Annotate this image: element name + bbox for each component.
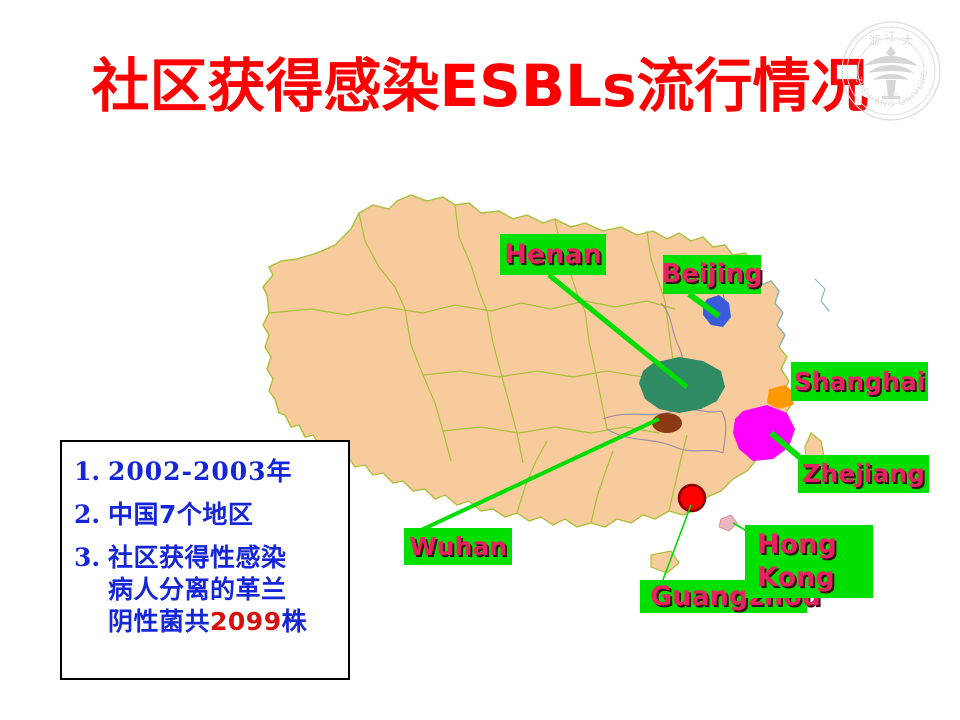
info-item-3-number: 3. bbox=[74, 542, 108, 573]
map-label-hongkong[interactable]: Hong Kong bbox=[745, 525, 873, 598]
info-item-3-highlight: 2099 bbox=[210, 607, 282, 636]
info-item-3-line3-post: 株 bbox=[282, 607, 308, 636]
info-item-1: 1. 2002-2003年 bbox=[74, 456, 338, 488]
map-label-wuhan-text: Wuhan bbox=[409, 534, 507, 560]
info-item-3: 3. 社区获得性感染 病人分离的革兰 阴性菌共2099株 bbox=[74, 542, 338, 638]
map-label-henan-text: Henan bbox=[504, 241, 602, 269]
zhejiang-university-logo-icon: 浙 江 大 ZHEJIANG UNIVERSITY 1897 bbox=[838, 18, 944, 124]
svg-text:1897: 1897 bbox=[884, 91, 899, 100]
hainan-island bbox=[651, 551, 679, 573]
connector-guangzhou bbox=[661, 505, 691, 585]
map-label-hongkong-line1: Hong bbox=[757, 529, 837, 562]
info-item-3-text: 社区获得性感染 病人分离的革兰 阴性菌共2099株 bbox=[108, 542, 307, 638]
info-item-3-line1: 社区获得性感染 bbox=[108, 543, 287, 572]
info-item-2-text: 中国7个地区 bbox=[108, 499, 253, 531]
map-label-shanghai-text: Shanghai bbox=[794, 369, 926, 395]
marker-guangzhou bbox=[679, 485, 705, 511]
map-label-henan[interactable]: Henan bbox=[500, 234, 606, 275]
map-label-zhejiang-text: Zhejiang bbox=[802, 461, 925, 487]
map-label-beijing[interactable]: Beijing bbox=[663, 255, 761, 294]
map-label-beijing-text: Beijing bbox=[661, 261, 762, 288]
svg-text:浙: 浙 bbox=[869, 34, 880, 47]
info-item-2-number: 2. bbox=[74, 499, 108, 530]
map-label-zhejiang[interactable]: Zhejiang bbox=[798, 455, 929, 493]
map-label-shanghai[interactable]: Shanghai bbox=[791, 362, 928, 401]
info-item-1-number: 1. bbox=[74, 456, 108, 487]
marker-wuhan bbox=[652, 413, 682, 433]
page-title: 社区获得感染ESBLs流行情况 bbox=[0, 56, 960, 117]
svg-text:大: 大 bbox=[902, 33, 913, 47]
map-label-hongkong-line2: Kong bbox=[757, 562, 835, 595]
info-item-2: 2. 中国7个地区 bbox=[74, 499, 338, 531]
info-item-3-line2: 病人分离的革兰 bbox=[108, 575, 287, 604]
map-label-wuhan[interactable]: Wuhan bbox=[404, 528, 512, 565]
svg-text:江: 江 bbox=[885, 30, 896, 43]
slide-canvas: 社区获得感染ESBLs流行情况 浙 江 大 bbox=[0, 0, 960, 720]
info-textbox: 1. 2002-2003年 2. 中国7个地区 3. 社区获得性感染 病人分离的… bbox=[60, 440, 350, 680]
info-item-1-text: 2002-2003年 bbox=[108, 456, 293, 488]
info-item-3-line3-pre: 阴性菌共 bbox=[108, 607, 210, 636]
